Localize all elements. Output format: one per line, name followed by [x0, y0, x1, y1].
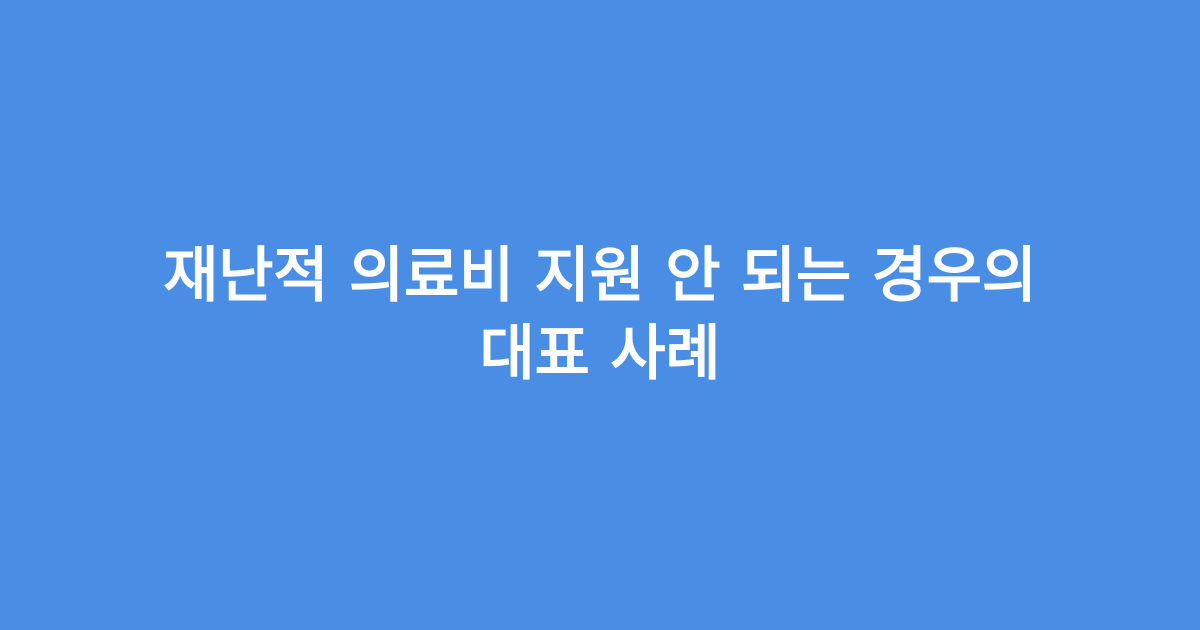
page-title: 재난적 의료비 지원 안 되는 경우의 대표 사례: [90, 237, 1110, 393]
og-image-card: 재난적 의료비 지원 안 되는 경우의 대표 사례: [0, 0, 1200, 630]
headline-block: 재난적 의료비 지원 안 되는 경우의 대표 사례: [70, 237, 1130, 393]
